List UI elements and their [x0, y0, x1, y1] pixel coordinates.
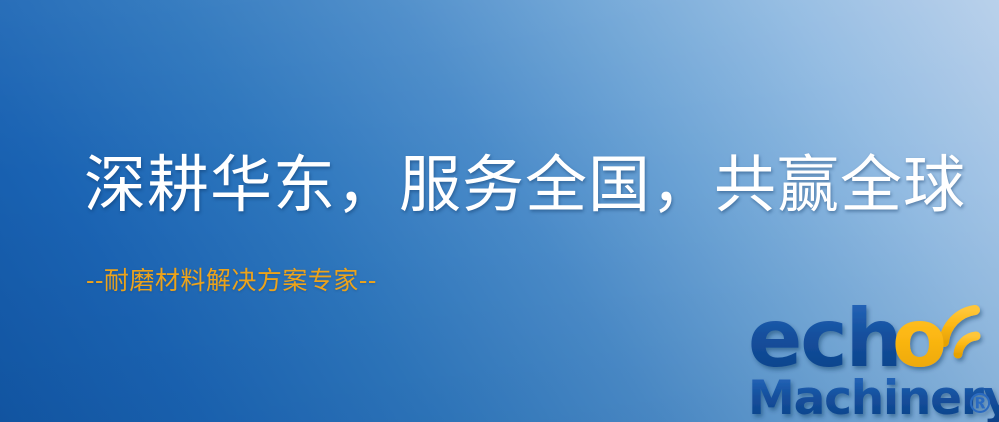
page-title: 深耕华东，服务全国，共赢全球: [84, 152, 966, 218]
logo-tagline: Machinery: [748, 371, 999, 422]
signal-waves-icon: [944, 310, 976, 354]
page-subtitle: --耐磨材料解决方案专家--: [86, 266, 377, 296]
echo-machinery-logo[interactable]: ech o Machinery ®: [748, 298, 999, 422]
registered-trademark-icon: ®: [966, 387, 994, 420]
hero-banner: 深耕华东，服务全国，共赢全球 --耐磨材料解决方案专家--: [0, 0, 999, 422]
